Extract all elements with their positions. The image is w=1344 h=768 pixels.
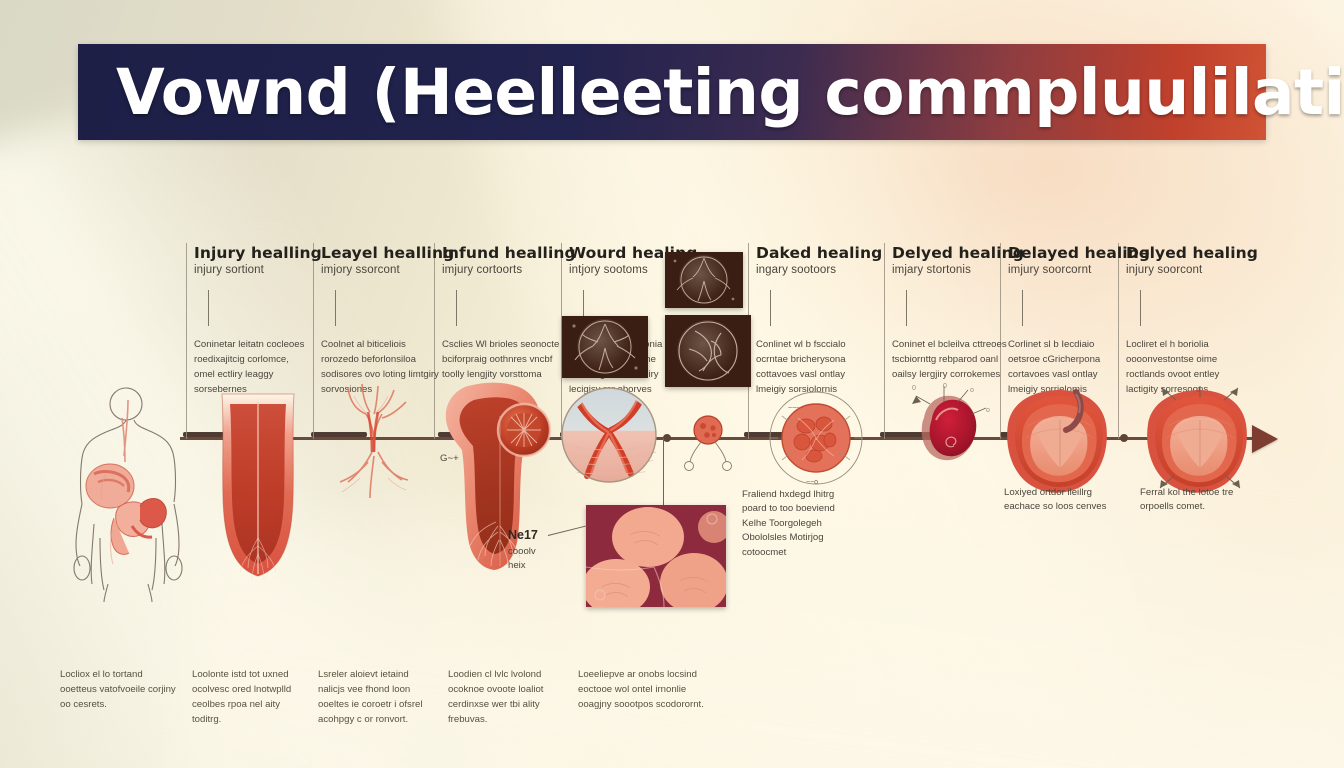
- svg-text:~~~: ~~~: [788, 405, 800, 412]
- timeline-node: [663, 434, 671, 442]
- infographic-canvas: Vownd (Heelleeting commpluulilations Inj…: [0, 0, 1344, 768]
- magnification-callout: Ne17 cooolv heix: [508, 526, 578, 574]
- svg-text:o: o: [986, 407, 990, 414]
- magnification-callout-line3: heix: [508, 559, 578, 573]
- svg-text:0: 0: [943, 383, 947, 390]
- stage-stem: [208, 290, 209, 326]
- page-title: Vownd (Heelleeting commpluulilations: [78, 61, 1344, 124]
- stage-subheading: injury soorcont: [1126, 264, 1258, 276]
- panel-leader-line: [663, 438, 664, 512]
- stage-stem: [906, 290, 907, 326]
- wound-bed-cross-section-2-illustration: o: [1146, 386, 1258, 492]
- vessel-cross-section-illustration: [212, 388, 304, 598]
- granulation-cell-circle-illustration: ~~~ ~~o: [766, 388, 866, 488]
- human-body-anatomy-illustration: [48, 378, 198, 608]
- stage-heading: Leayel healling: [321, 244, 454, 262]
- histology-panel[interactable]: [586, 505, 726, 607]
- footer-caption-3: Lsreler aloievt ietaind nalicjs vee fhon…: [318, 668, 436, 727]
- axis-marker-label: G~+: [440, 452, 459, 466]
- stage-subheading: injury sortiont: [194, 264, 322, 276]
- svg-text:~~o: ~~o: [806, 479, 818, 486]
- cell-stage-callout: Fraliend hxdegd lhitrg poard to too boev…: [742, 488, 860, 560]
- platelet-cell-illustration: [680, 412, 736, 474]
- wound-bed-cross-section-1-illustration: [1006, 386, 1118, 492]
- stage-stem: [1140, 290, 1141, 326]
- timeline-node: [1120, 434, 1128, 442]
- clot-cell-illustration: 00oo: [888, 382, 998, 482]
- svg-text:0: 0: [912, 385, 916, 392]
- microscopy-panel-1[interactable]: [562, 316, 648, 378]
- magnification-callout-line2: cooolv: [508, 545, 578, 559]
- stage-block-3[interactable]: Infund healling imjury cortoorts Csclies…: [442, 244, 576, 383]
- stage-subheading: imjury cortoorts: [442, 264, 576, 276]
- stage-heading: Delyed healing: [1126, 244, 1258, 262]
- microscopy-panel-2[interactable]: [665, 252, 743, 308]
- stage-heading: Delyed healing: [892, 244, 1024, 262]
- final-stage-callout: Ferral kol the lotoe tre orpoells comet.: [1140, 486, 1250, 515]
- footer-caption-1: Locliox el lo tortand ooetteus vatofvoei…: [60, 668, 178, 713]
- stage-heading: Injury healling: [194, 244, 322, 262]
- stage-subheading: ingary sootoors: [756, 264, 882, 276]
- stage-block-6[interactable]: Delyed healing imjary stortonis Coninet …: [892, 244, 1024, 383]
- stage-stem: [770, 290, 771, 326]
- footer-caption-4: Loodien cl lvlc lvolond ocoknoe ovoote l…: [448, 668, 566, 727]
- column-divider: [884, 243, 885, 439]
- microscopy-panel-3[interactable]: [665, 315, 751, 387]
- capillary-circle-inset-illustration: [560, 386, 658, 484]
- delayed-stage-callout: Loxiyed ortdor ileillrg eachace so loos …: [1004, 486, 1114, 515]
- footer-caption-5: Loeeliepve ar onobs locsind eoctooe wol …: [578, 668, 710, 713]
- stage-stem: [1022, 290, 1023, 326]
- svg-text:o: o: [970, 387, 974, 394]
- stage-block-2[interactable]: Leayel healling imjory ssorcont Coolnet …: [321, 244, 454, 397]
- footer-caption-2: Loolonte istd tot uxned ocolvesc ored ln…: [192, 668, 310, 727]
- title-banner: Vownd (Heelleeting commpluulilations: [78, 44, 1266, 140]
- stage-stem: [456, 290, 457, 326]
- stage-block-5[interactable]: Daked healing ingary sootoors Conlinet w…: [756, 244, 882, 397]
- stage-heading: Daked healing: [756, 244, 882, 262]
- stage-stem: [335, 290, 336, 326]
- stage-body: Coninet el bcleilva cttreoes tscbiornttg…: [892, 338, 1010, 383]
- stage-block-8[interactable]: Delyed healing injury soorcont Locliret …: [1126, 244, 1258, 397]
- magnification-callout-lead: Ne17: [508, 526, 578, 545]
- stage-subheading: imjory ssorcont: [321, 264, 454, 276]
- vascular-branching-illustration: [328, 382, 424, 502]
- svg-text:o: o: [1196, 385, 1201, 394]
- stage-subheading: imjary stortonis: [892, 264, 1024, 276]
- stage-block-1[interactable]: Injury healling injury sortiont Conineta…: [194, 244, 322, 397]
- stage-heading: Infund healling: [442, 244, 576, 262]
